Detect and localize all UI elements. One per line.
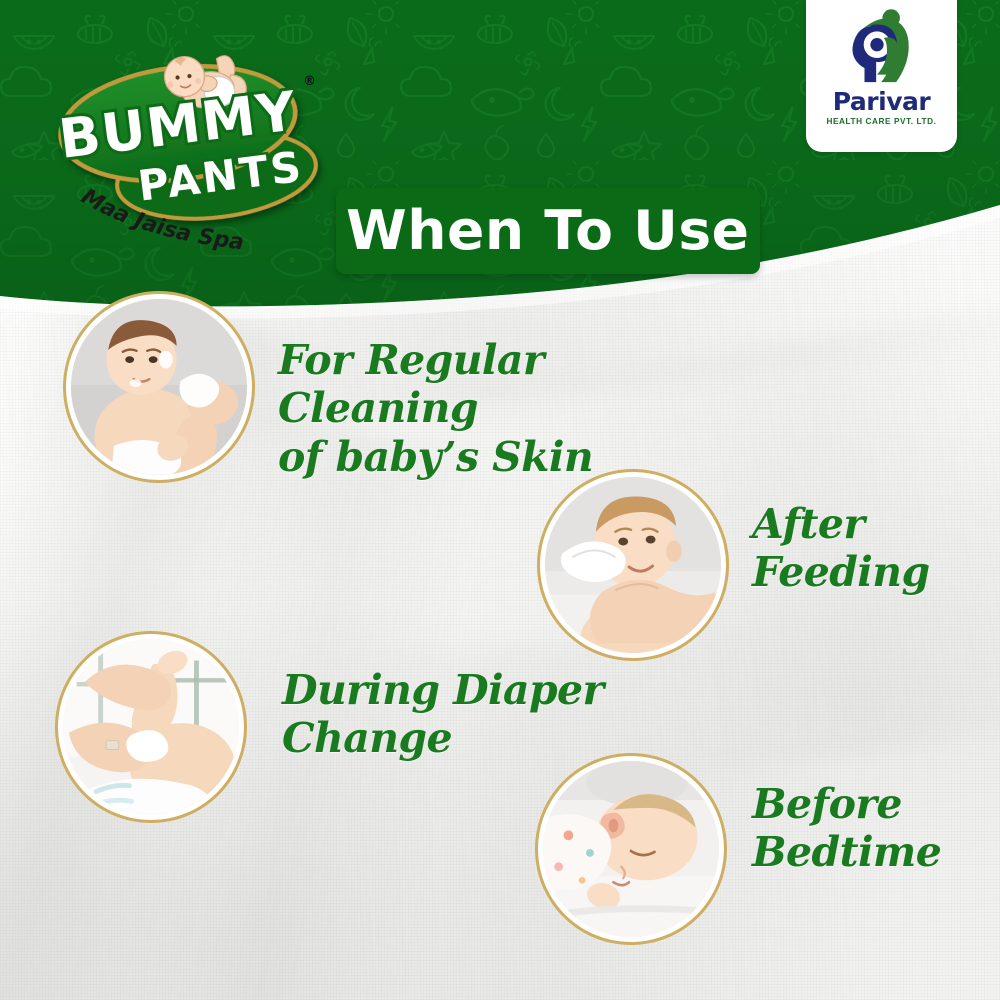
company-name: Parivar bbox=[833, 89, 930, 114]
feature-photo-before-bedtime bbox=[538, 756, 724, 942]
title-banner: When To Use bbox=[336, 188, 760, 274]
page-title: When To Use bbox=[346, 204, 749, 258]
bummy-pants-logo: BUMMY PANTS ® Maa Jaisa Sparsh bbox=[52, 50, 332, 250]
diaper-change-photo bbox=[63, 639, 239, 815]
poster-canvas: Parivar HEALTH CARE PVT. LTD. bbox=[0, 0, 1000, 1000]
feature-label-regular-cleaning: For Regular Cleaning of baby’s Skin bbox=[278, 336, 738, 481]
sleeping-baby-photo bbox=[543, 761, 719, 937]
company-subtitle: HEALTH CARE PVT. LTD. bbox=[826, 117, 936, 126]
parivar-logo-card: Parivar HEALTH CARE PVT. LTD. bbox=[806, 0, 957, 152]
feature-photo-after-feeding bbox=[540, 472, 726, 658]
feature-label-after-feeding: After Feeding bbox=[752, 500, 1000, 597]
registered-mark-icon: ® bbox=[303, 74, 316, 89]
wiping-baby-face-photo bbox=[545, 477, 721, 653]
feature-photo-diaper-change bbox=[58, 634, 244, 820]
baby-being-wiped-photo bbox=[71, 299, 247, 475]
feature-label-diaper-change: During Diaper Change bbox=[282, 666, 612, 763]
feature-label-before-bedtime: Before Bedtime bbox=[752, 780, 1000, 877]
parivar-figure-icon bbox=[840, 8, 924, 88]
feature-photo-regular-cleaning bbox=[66, 294, 252, 480]
